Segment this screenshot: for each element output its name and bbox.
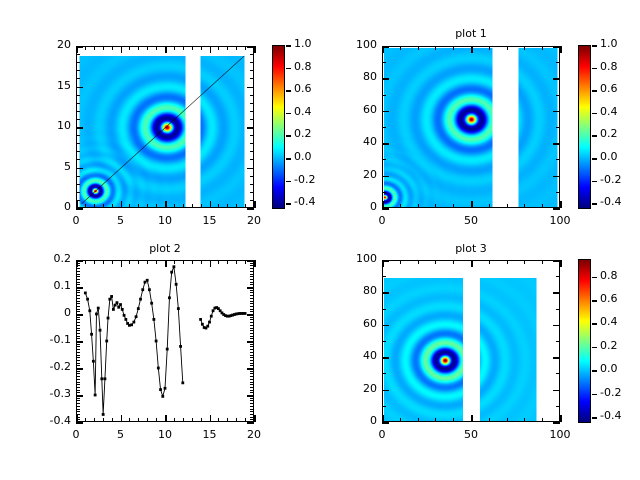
panel-bottom-right-xtick-minor-top: [524, 260, 525, 264]
panel-bottom-right-ytick-label: 100: [334, 252, 377, 265]
data-point-marker: [95, 313, 98, 316]
data-point-marker: [139, 298, 142, 301]
panel-top-right-ytick-minor-right: [556, 159, 560, 160]
panel-bottom-left-ytick-minor: [76, 355, 80, 356]
panel-bottom-left-ytick-minor-right: [250, 352, 254, 353]
panel-top-left-ytick-minor-right: [250, 62, 254, 63]
panel-bottom-left-ytick-minor-right: [250, 373, 254, 374]
panel-top-right-xtick-major: [560, 201, 562, 208]
panel-top-left-xtick-minor: [183, 204, 184, 208]
panel-bottom-right-ytick-major: [382, 292, 389, 294]
panel-top-right-xtick-minor-top: [489, 46, 490, 50]
panel-top-left-xtick-major: [76, 201, 78, 208]
panel-bottom-left-xtick-minor-top: [201, 260, 202, 264]
panel-bottom-left-xtick-minor-top: [103, 260, 104, 264]
panel-top-right-ytick-label: 0: [334, 200, 377, 213]
panel-bottom-right-colorbar-label: -0.4: [600, 409, 621, 422]
panel-top-left-image: [78, 48, 253, 207]
data-point-marker: [86, 298, 89, 301]
panel-bottom-left-ytick-minor-right: [250, 309, 254, 310]
panel-top-left-ytick-major-right: [247, 87, 254, 89]
panel-top-left-xtick-minor-top: [85, 46, 86, 50]
panel-bottom-left-ytick-minor: [76, 295, 80, 296]
panel-top-right: plot 1 050100020406080100 1.00.80.60.40.…: [320, 0, 640, 240]
panel-bottom-left-xtick-minor-top: [112, 260, 113, 264]
panel-bottom-right-ytick-major-right: [553, 292, 560, 294]
panel-top-left-xtick-major: [210, 201, 212, 208]
panel-top-left-xtick-minor: [236, 204, 237, 208]
panel-top-right-xtick-minor: [524, 204, 525, 208]
panel-bottom-left-ytick-minor-right: [250, 411, 254, 412]
panel-bottom-left-ytick-minor: [76, 306, 80, 307]
panel-top-right-xtick-minor-top: [542, 46, 543, 50]
panel-top-right-xtick-major: [382, 201, 384, 208]
panel-top-left-ytick-label: 0: [28, 200, 71, 213]
panel-bottom-left-ytick-minor-right: [250, 406, 254, 407]
panel-top-right-xtick-minor: [542, 204, 543, 208]
panel-top-right-ytick-major-right: [553, 143, 560, 145]
panel-top-right-xtick-minor-top: [435, 46, 436, 50]
panel-bottom-right-ytick-minor: [382, 309, 386, 310]
panel-top-left-colorbar-tick: [286, 45, 291, 47]
panel-bottom-left-ytick-minor: [76, 274, 80, 275]
panel-bottom-left-xtick-minor: [183, 418, 184, 422]
panel-bottom-right-xtick-minor-top: [400, 260, 401, 264]
panel-top-right-xtick-major: [471, 201, 473, 208]
panel-bottom-left-ytick-minor-right: [250, 311, 254, 312]
data-point-marker: [150, 302, 153, 305]
panel-top-right-colorbar-label: 0.4: [600, 105, 618, 118]
panel-bottom-left-ytick-minor-right: [250, 414, 254, 415]
panel-bottom-right-xtick-minor-top: [542, 260, 543, 264]
panel-bottom-right-xtick-minor: [489, 418, 490, 422]
panel-top-right-ytick-label: 20: [334, 168, 377, 181]
panel-top-left-xtick-minor-top: [218, 46, 219, 50]
panel-bottom-left-ytick-minor: [76, 311, 80, 312]
panel-bottom-right-colorbar-tick: [592, 277, 597, 279]
data-point-marker: [157, 367, 160, 370]
panel-top-right-colorbar-tick: [592, 203, 597, 205]
panel-bottom-right: plot 3 050100020406080100 0.80.60.40.20.…: [320, 240, 640, 480]
panel-bottom-left-ytick-minor-right: [250, 360, 254, 361]
panel-top-left-ytick-major: [76, 168, 83, 170]
panel-top-right-ytick-major: [382, 176, 389, 178]
panel-bottom-left-xtick-label: 0: [56, 428, 96, 441]
data-point-marker: [117, 306, 120, 309]
panel-bottom-left-series: [76, 260, 254, 422]
panel-top-right-ytick-minor-right: [556, 62, 560, 63]
panel-bottom-left-ytick-minor: [76, 417, 80, 418]
panel-bottom-right-ytick-minor: [382, 373, 386, 374]
panel-top-right-colorbar-tick: [592, 158, 597, 160]
panel-bottom-left-xtick-major-top: [254, 260, 256, 267]
panel-bottom-right-ytick-major: [382, 357, 389, 359]
panel-top-right-ytick-major: [382, 78, 389, 80]
panel-bottom-left-ytick-minor: [76, 328, 80, 329]
panel-bottom-left-ytick-minor-right: [250, 263, 254, 264]
data-point-marker: [175, 283, 178, 286]
panel-bottom-right-xtick-major: [471, 415, 473, 422]
panel-bottom-left-ytick-minor-right: [250, 387, 254, 388]
panel-bottom-left-ytick-minor: [76, 333, 80, 334]
panel-bottom-left-xtick-minor-top: [183, 260, 184, 264]
data-point-marker: [161, 395, 164, 398]
panel-top-right-ytick-label: 60: [334, 103, 377, 116]
panel-bottom-right-ytick-major-right: [553, 422, 560, 424]
data-point-marker: [210, 315, 213, 318]
panel-top-right-xtick-minor-top: [507, 46, 508, 50]
panel-bottom-right-ytick-minor-right: [556, 341, 560, 342]
panel-bottom-left-ytick-minor-right: [250, 325, 254, 326]
panel-bottom-left-ytick-minor-right: [250, 382, 254, 383]
panel-bottom-left-ytick-minor: [76, 265, 80, 266]
panel-top-right-colorbar-label: 0.2: [600, 127, 618, 140]
panel-bottom-left-xtick-minor: [174, 418, 175, 422]
panel-bottom-left-ytick-minor-right: [250, 346, 254, 347]
panel-top-left-xtick-minor: [174, 204, 175, 208]
panel-bottom-right-xtick-minor-top: [507, 260, 508, 264]
panel-top-right-xtick-major-top: [560, 46, 562, 53]
panel-top-right-xtick-minor: [435, 204, 436, 208]
panel-bottom-left-xtick-minor-top: [236, 260, 237, 264]
panel-top-left-colorbar-tick: [286, 203, 291, 205]
panel-top-left-colorbar-label: 0.2: [294, 127, 312, 140]
panel-top-right-title: plot 1: [382, 27, 560, 40]
panel-bottom-left-ytick-label: -0.2: [28, 360, 71, 373]
panel-bottom-right-xtick-label: 0: [362, 428, 402, 441]
data-point-marker: [179, 345, 182, 348]
panel-bottom-left-ytick-minor-right: [250, 400, 254, 401]
panel-bottom-left-xtick-major-top: [210, 260, 212, 267]
panel-bottom-left-ytick-minor-right: [250, 338, 254, 339]
panel-top-right-colorbar-tick: [592, 181, 597, 183]
data-point-marker: [170, 271, 173, 274]
panel-top-left-ytick-minor: [76, 70, 80, 71]
panel-bottom-right-colorbar-label: 0.0: [600, 362, 618, 375]
panel-bottom-left-ytick-minor-right: [250, 298, 254, 299]
panel-bottom-left-ytick-minor: [76, 365, 80, 366]
panel-top-right-xtick-label: 100: [540, 214, 580, 227]
panel-top-left-colorbar-tick: [286, 68, 291, 70]
panel-top-left-ytick-minor: [76, 78, 80, 79]
panel-bottom-left-ytick-minor-right: [250, 392, 254, 393]
panel-bottom-left-ytick-major-right: [247, 287, 254, 289]
data-point-marker: [146, 279, 149, 282]
panel-top-right-ytick-major-right: [553, 46, 560, 48]
data-point-marker: [130, 323, 133, 326]
panel-top-right-xtick-minor-top: [453, 46, 454, 50]
panel-bottom-right-image: [384, 262, 559, 421]
panel-bottom-left-ytick-major: [76, 260, 83, 262]
panel-top-left-ytick-major-right: [247, 208, 254, 210]
panel-top-left-xtick-minor-top: [201, 46, 202, 50]
panel-top-left-ytick-minor: [76, 184, 80, 185]
panel-bottom-right-xtick-label: 50: [451, 428, 491, 441]
panel-top-left-ytick-minor-right: [250, 143, 254, 144]
panel-bottom-left-xtick-minor: [112, 418, 113, 422]
panel-top-right-image: [384, 48, 559, 207]
data-point-marker: [164, 387, 167, 390]
panel-bottom-left-ytick-label: 0.2: [28, 252, 71, 265]
panel-top-left-ytick-minor-right: [250, 111, 254, 112]
panel-top-left-xtick-major-top: [210, 46, 212, 53]
panel-bottom-left-xtick-minor-top: [129, 260, 130, 264]
panel-top-right-ytick-label: 100: [334, 38, 377, 51]
panel-bottom-right-ytick-minor: [382, 341, 386, 342]
panel-bottom-left-xtick-major: [210, 415, 212, 422]
panel-bottom-left-ytick-minor: [76, 271, 80, 272]
panel-top-left-xtick-minor-top: [147, 46, 148, 50]
panel-bottom-right-ytick-minor-right: [556, 406, 560, 407]
panel-bottom-left-ytick-minor: [76, 298, 80, 299]
panel-bottom-left-xtick-minor: [227, 418, 228, 422]
data-point-marker: [155, 340, 158, 343]
panel-bottom-right-xtick-minor: [453, 418, 454, 422]
panel-top-left-ytick-minor-right: [250, 192, 254, 193]
panel-top-right-colorbar-tick: [592, 135, 597, 137]
data-point-marker: [148, 288, 151, 291]
panel-top-left-xtick-label: 0: [56, 214, 96, 227]
panel-top-left-ytick-minor: [76, 159, 80, 160]
panel-bottom-left-xtick-minor-top: [85, 260, 86, 264]
panel-top-left-colorbar-label: 0.6: [294, 82, 312, 95]
panel-bottom-left-xtick-major-top: [165, 260, 167, 267]
data-point-marker: [110, 295, 113, 298]
data-point-marker: [105, 340, 108, 343]
panel-bottom-left-ytick-minor: [76, 325, 80, 326]
data-point-marker: [112, 308, 115, 311]
panel-bottom-left-ytick-label: -0.4: [28, 414, 71, 427]
data-point-marker: [94, 394, 97, 397]
panel-top-right-ytick-major-right: [553, 78, 560, 80]
panel-top-left-colorbar-tick: [286, 135, 291, 137]
panel-top-left-ytick-minor-right: [250, 119, 254, 120]
panel-bottom-left-ytick-minor: [76, 403, 80, 404]
panel-top-right-ytick-minor: [382, 62, 386, 63]
panel-bottom-left-ytick-minor: [76, 398, 80, 399]
panel-top-left-ytick-label: 15: [28, 79, 71, 92]
panel-top-left-xtick-label: 5: [101, 214, 141, 227]
data-point-marker: [166, 348, 169, 351]
panel-bottom-right-colorbar-label: 0.4: [600, 315, 618, 328]
data-point-marker: [206, 325, 209, 328]
data-point-marker: [124, 318, 127, 321]
panel-bottom-left-ytick-minor-right: [250, 390, 254, 391]
panel-top-left-ytick-minor: [76, 95, 80, 96]
panel-top-left-xtick-minor: [129, 204, 130, 208]
panel-top-right-ytick-major-right: [553, 111, 560, 113]
panel-top-left-ytick-minor: [76, 62, 80, 63]
panel-bottom-left-ytick-minor-right: [250, 333, 254, 334]
panel-bottom-left-ytick-minor: [76, 411, 80, 412]
panel-bottom-right-ytick-major-right: [553, 390, 560, 392]
panel-bottom-left-ytick-minor-right: [250, 409, 254, 410]
panel-top-left-xtick-minor: [103, 204, 104, 208]
panel-top-right-colorbar-label: 1.0: [600, 37, 618, 50]
panel-bottom-right-ytick-major: [382, 260, 389, 262]
panel-bottom-right-xtick-minor: [524, 418, 525, 422]
panel-bottom-right-xtick-major: [382, 415, 384, 422]
data-point-marker: [119, 303, 122, 306]
panel-top-left-ytick-minor: [76, 103, 80, 104]
panel-bottom-left-ytick-minor-right: [250, 284, 254, 285]
panel-bottom-right-xtick-minor: [435, 418, 436, 422]
panel-bottom-left-ytick-minor: [76, 284, 80, 285]
panel-top-left-ytick-minor: [76, 200, 80, 201]
panel-top-right-ytick-major: [382, 111, 389, 113]
panel-bottom-left-ytick-minor-right: [250, 322, 254, 323]
panel-bottom-left-xtick-minor: [192, 418, 193, 422]
panel-bottom-right-colorbar-label: 0.2: [600, 339, 618, 352]
panel-bottom-left-ytick-minor: [76, 376, 80, 377]
panel-top-left-xtick-minor: [156, 204, 157, 208]
panel-bottom-right-ytick-label: 80: [334, 284, 377, 297]
panel-top-right-ytick-minor: [382, 127, 386, 128]
panel-bottom-left-ytick-minor: [76, 279, 80, 280]
panel-bottom-left-xtick-minor-top: [218, 260, 219, 264]
panel-bottom-left-ytick-minor-right: [250, 376, 254, 377]
panel-top-left-xtick-minor-top: [112, 46, 113, 50]
panel-top-right-ytick-major: [382, 208, 389, 210]
panel-bottom-left-ytick-minor: [76, 336, 80, 337]
panel-top-left-xtick-minor: [201, 204, 202, 208]
panel-top-right-colorbar-label: -0.2: [600, 173, 621, 186]
panel-bottom-right-xtick-minor: [542, 418, 543, 422]
panel-bottom-left-ytick-minor-right: [250, 303, 254, 304]
panel-bottom-right-ytick-minor-right: [556, 373, 560, 374]
panel-bottom-left-xtick-minor: [103, 418, 104, 422]
panel-bottom-right-colorbar-tick: [592, 323, 597, 325]
panel-top-left-colorbar-label: 0.0: [294, 150, 312, 163]
panel-top-left-colorbar-label: -0.2: [294, 173, 315, 186]
panel-bottom-left-ytick-major: [76, 422, 83, 424]
panel-top-right-colorbar-label: -0.4: [600, 195, 621, 208]
panel-bottom-left-ytick-minor: [76, 371, 80, 372]
panel-bottom-left-ytick-major-right: [247, 422, 254, 424]
panel-bottom-left-ytick-minor-right: [250, 279, 254, 280]
panel-bottom-right-colorbar-tick: [592, 300, 597, 302]
panel-bottom-left-ytick-minor-right: [250, 344, 254, 345]
panel-bottom-left-ytick-minor: [76, 309, 80, 310]
panel-bottom-left-xtick-minor: [236, 418, 237, 422]
panel-bottom-left-xtick-label: 10: [145, 428, 185, 441]
panel-top-right-colorbar-tick: [592, 90, 597, 92]
panel-top-left-ytick-minor-right: [250, 159, 254, 160]
panel-bottom-left: plot 2 051015200.20.10-0.1-0.2-0.3-0.4: [0, 240, 320, 480]
panel-bottom-left-xtick-minor: [94, 418, 95, 422]
panel-bottom-left-ytick-minor: [76, 276, 80, 277]
panel-bottom-right-xtick-minor: [507, 418, 508, 422]
panel-bottom-right-xtick-major-top: [560, 260, 562, 267]
panel-bottom-left-ytick-minor: [76, 301, 80, 302]
panel-bottom-left-ytick-minor-right: [250, 268, 254, 269]
panel-top-left-ytick-major-right: [247, 168, 254, 170]
panel-top-right-colorbar-label: 0.0: [600, 150, 618, 163]
panel-bottom-right-ytick-major: [382, 390, 389, 392]
panel-bottom-left-ytick-minor-right: [250, 274, 254, 275]
panel-bottom-left-ytick-minor: [76, 406, 80, 407]
panel-bottom-left-ytick-minor: [76, 330, 80, 331]
panel-bottom-right-ytick-label: 40: [334, 349, 377, 362]
line-path-segment-1: [85, 267, 182, 415]
panel-bottom-right-ytick-label: 0: [334, 414, 377, 427]
panel-bottom-left-ytick-minor: [76, 392, 80, 393]
panel-top-left-ytick-minor: [76, 192, 80, 193]
panel-bottom-right-colorbar-tick: [592, 417, 597, 419]
panel-bottom-right-ytick-major-right: [553, 357, 560, 359]
data-point-marker: [201, 323, 204, 326]
panel-top-right-colorbar-tick: [592, 68, 597, 70]
panel-bottom-left-ytick-minor-right: [250, 357, 254, 358]
panel-bottom-left-ytick-minor: [76, 338, 80, 339]
panel-top-left-colorbar-tick: [286, 90, 291, 92]
panel-bottom-right-ytick-minor-right: [556, 309, 560, 310]
panel-top-right-ytick-minor: [382, 159, 386, 160]
panel-top-left-xtick-label: 10: [145, 214, 185, 227]
panel-top-right-xtick-minor-top: [524, 46, 525, 50]
panel-top-left-ytick-minor-right: [250, 95, 254, 96]
panel-top-left-xtick-minor: [94, 204, 95, 208]
panel-bottom-left-ytick-minor-right: [250, 365, 254, 366]
panel-bottom-left-ytick-major-right: [247, 341, 254, 343]
data-point-marker: [108, 298, 111, 301]
panel-bottom-left-ytick-minor-right: [250, 328, 254, 329]
data-point-marker: [84, 292, 87, 295]
panel-bottom-left-ytick-minor: [76, 319, 80, 320]
panel-bottom-left-xtick-minor: [201, 418, 202, 422]
panel-top-right-xtick-minor: [400, 204, 401, 208]
panel-top-right-xtick-major-top: [471, 46, 473, 53]
panel-top-left-ytick-minor: [76, 111, 80, 112]
panel-bottom-left-ytick-minor-right: [250, 355, 254, 356]
panel-top-left-xtick-label: 15: [190, 214, 230, 227]
panel-bottom-right-ytick-minor-right: [556, 276, 560, 277]
data-point-marker: [107, 317, 110, 320]
panel-top-left-ytick-major: [76, 46, 83, 48]
panel-top-left-xtick-minor-top: [236, 46, 237, 50]
panel-bottom-left-ytick-major-right: [247, 395, 254, 397]
figure-canvas: 0510152005101520 1.00.80.60.40.20.0-0.2-…: [0, 0, 640, 480]
panel-top-left-colorbar: [272, 45, 285, 209]
panel-bottom-left-ytick-label: 0: [28, 306, 71, 319]
data-point-marker: [173, 265, 176, 268]
panel-top-left-colorbar-label: 1.0: [294, 37, 312, 50]
panel-top-left-xtick-minor-top: [94, 46, 95, 50]
panel-bottom-left-xtick-minor: [156, 418, 157, 422]
panel-top-left-xtick-major: [165, 201, 167, 208]
panel-top-left-colorbar-label: 0.4: [294, 105, 312, 118]
panel-top-left-colorbar-tick: [286, 181, 291, 183]
data-point-marker: [116, 301, 119, 304]
panel-top-left-xtick-minor: [147, 204, 148, 208]
data-point-marker: [97, 307, 100, 310]
panel-top-left-xtick-minor-top: [156, 46, 157, 50]
panel-bottom-left-ytick-minor: [76, 290, 80, 291]
panel-top-left-ytick-minor-right: [250, 135, 254, 136]
panel-top-right-xtick-minor-top: [400, 46, 401, 50]
panel-bottom-left-xtick-minor: [85, 418, 86, 422]
panel-bottom-left-ytick-minor: [76, 282, 80, 283]
panel-bottom-left-xtick-minor-top: [227, 260, 228, 264]
panel-top-right-xtick-minor-top: [418, 46, 419, 50]
panel-bottom-left-ytick-minor: [76, 360, 80, 361]
panel-bottom-left-ytick-minor-right: [250, 371, 254, 372]
data-point-marker: [152, 318, 155, 321]
panel-top-left-xtick-minor: [85, 204, 86, 208]
panel-top-left-xtick-minor-top: [103, 46, 104, 50]
panel-top-left-ytick-major: [76, 127, 83, 129]
panel-top-right-xtick-minor: [489, 204, 490, 208]
